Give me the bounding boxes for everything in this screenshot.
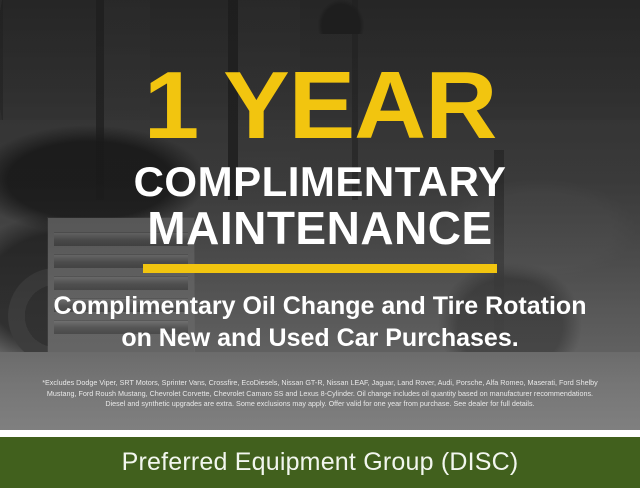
headline-complimentary: COMPLIMENTARY (0, 160, 640, 204)
subheadline-block: Complimentary Oil Change and Tire Rotati… (0, 290, 640, 354)
headline-maintenance: MAINTENANCE (0, 204, 640, 252)
yellow-divider-rule (143, 264, 497, 273)
disclaimer-line-2: Mustang, Ford Roush Mustang, Chevrolet C… (8, 389, 632, 400)
disclaimer-line-3: Diesel and synthetic upgrades are extra.… (8, 399, 632, 410)
subheadline-line-1: Complimentary Oil Change and Tire Rotati… (0, 290, 640, 322)
promotional-banner: 1 YEAR COMPLIMENTARY MAINTENANCE Complim… (0, 0, 640, 488)
equipment-group-footer: Preferred Equipment Group (DISC) (0, 437, 640, 488)
headline-year: 1 YEAR (0, 58, 640, 154)
subheadline-line-2: on New and Used Car Purchases. (0, 322, 640, 354)
disclaimer-line-1: *Excludes Dodge Viper, SRT Motors, Sprin… (8, 378, 632, 389)
headline-block: 1 YEAR COMPLIMENTARY MAINTENANCE (0, 58, 640, 273)
equipment-group-label: Preferred Equipment Group (DISC) (122, 448, 519, 477)
disclaimer-block: *Excludes Dodge Viper, SRT Motors, Sprin… (0, 378, 640, 410)
